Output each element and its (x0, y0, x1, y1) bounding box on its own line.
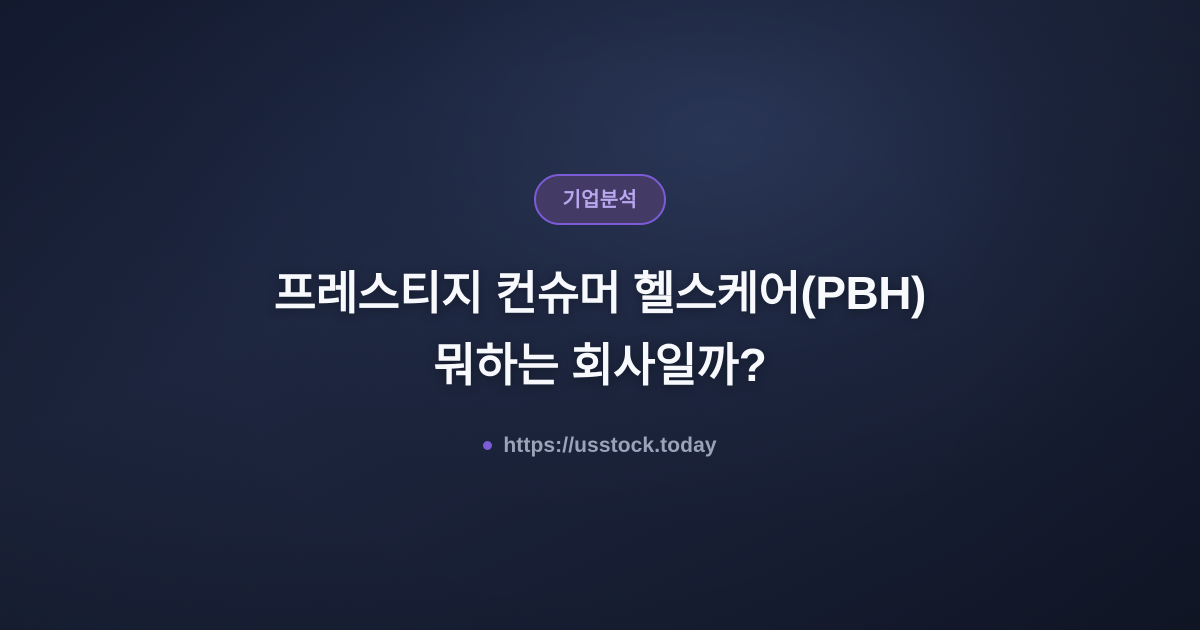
og-card: 기업분석 프레스티지 컨슈머 헬스케어(PBH) 뭐하는 회사일까? https… (0, 0, 1200, 630)
page-title-line-1: 프레스티지 컨슈머 헬스케어(PBH) (274, 257, 926, 329)
page-title: 프레스티지 컨슈머 헬스케어(PBH) 뭐하는 회사일까? (274, 257, 926, 401)
page-title-line-2: 뭐하는 회사일까? (274, 329, 926, 401)
site-url-text: https://usstock.today (503, 435, 716, 456)
card-content: 기업분석 프레스티지 컨슈머 헬스케어(PBH) 뭐하는 회사일까? https… (0, 0, 1200, 630)
category-badge: 기업분석 (534, 174, 666, 225)
site-url-line: https://usstock.today (483, 435, 716, 456)
bullet-dot-icon (483, 441, 492, 450)
